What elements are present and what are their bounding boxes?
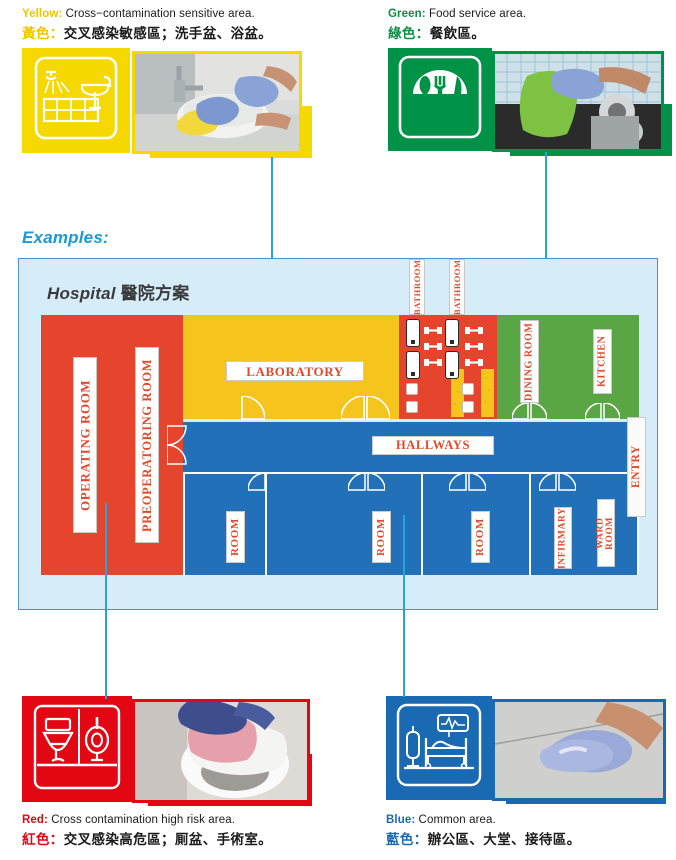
wall-rooms-left	[183, 472, 185, 575]
room-label-room-2: ROOM	[372, 511, 391, 563]
red-key-en: Red:	[22, 814, 48, 826]
yellow-caption-en: Yellow: Cross−contamination sensitive ar…	[22, 8, 272, 20]
blue-photo-wrap	[492, 699, 666, 801]
diagram-title-en: Hospital	[47, 284, 116, 303]
blue-key-zh: 藍色：	[386, 832, 428, 847]
green-photo-wrap	[492, 51, 664, 152]
door-laboratory-right-a	[341, 396, 365, 420]
door-kitchen-a	[585, 403, 602, 420]
yellow-text-zh: 交叉感染敏感區；洗手盆、浴盆。	[64, 26, 273, 41]
blue-caption: Blue: Common area. 藍色：辦公區、大堂、接待區。	[386, 814, 581, 848]
room-label-dining-room: DINING ROOM	[520, 320, 539, 403]
green-key-zh: 綠色：	[388, 26, 430, 41]
blue-photo	[495, 702, 663, 798]
door-dining-b	[530, 403, 547, 420]
yellow-photo-wrap	[132, 51, 302, 154]
room-label-preoperating-room: PREOPERATORING ROOM	[135, 347, 159, 543]
green-photo	[495, 54, 661, 149]
bathroom-stall-4	[445, 351, 459, 379]
room-label-ward-room: WARD ROOM	[597, 499, 615, 567]
red-key-zh: 紅色：	[22, 832, 64, 847]
red-photo	[135, 702, 307, 800]
door-room-2a	[348, 473, 366, 491]
green-caption-en: Green: Food service area.	[388, 8, 526, 20]
yellow-legend-block	[22, 48, 292, 160]
room-label-hallways: HALLWAYS	[372, 436, 494, 455]
red-caption-zh: 紅色：交叉感染高危區；厠盆、手術室。	[22, 828, 272, 848]
red-caption: Red: Cross contamination high risk area.…	[22, 814, 272, 848]
green-legend-block	[388, 48, 668, 160]
bathroom-sink-2	[406, 401, 418, 413]
door-preop-to-hallway	[167, 425, 187, 465]
wall-rooms-divider-3	[529, 472, 531, 575]
green-caption-zh: 綠色：餐飲區。	[388, 22, 526, 42]
red-text-en: Cross contamination high risk area.	[51, 814, 235, 826]
bathroom-stall-3	[445, 319, 459, 347]
toilet-and-brush-icon	[31, 703, 123, 796]
bathroom-sink-4	[462, 401, 474, 413]
room-label-bathroom-2: BATHROOM	[449, 259, 465, 315]
hospital-bed-monitor-icon	[394, 702, 484, 795]
green-text-en: Food service area.	[429, 8, 526, 20]
door-room-2b	[367, 473, 385, 491]
room-label-laboratory: LABORATORY	[226, 361, 364, 381]
room-label-room-3: ROOM	[471, 511, 490, 563]
green-icon-tile	[388, 48, 492, 151]
wall-rooms-divider-2	[421, 472, 423, 575]
yellow-caption: Yellow: Cross−contamination sensitive ar…	[22, 8, 272, 42]
room-label-room-1: ROOM	[226, 511, 245, 563]
red-legend-block	[22, 696, 312, 810]
poster-root: Yellow: Cross−contamination sensitive ar…	[0, 0, 676, 860]
room-label-infirmary: INFIRMARY	[554, 507, 572, 569]
hospital-diagram-panel: Hospital 醫院方案 OPERATING ROOM PREOPERATOR…	[18, 258, 658, 610]
blue-legend-block	[386, 696, 674, 810]
room-label-operating-room: OPERATING ROOM	[73, 357, 97, 533]
yellow-text-en: Cross−contamination sensitive area.	[66, 8, 255, 20]
door-room-3b	[468, 473, 486, 491]
blue-text-en: Common area.	[419, 814, 496, 826]
bathroom-sink-3	[462, 383, 474, 395]
zone-red-surgical	[41, 315, 183, 575]
room-label-entry: ENTRY	[627, 417, 646, 517]
red-icon-tile	[22, 696, 132, 802]
blue-caption-en: Blue: Common area.	[386, 814, 581, 826]
room-label-kitchen: KITCHEN	[593, 329, 612, 394]
blue-connector-line	[403, 515, 405, 697]
green-text-zh: 餐飲區。	[430, 26, 486, 41]
blue-text-zh: 辦公區、大堂、接待區。	[428, 832, 581, 847]
yellow-key-zh: 黃色：	[22, 26, 64, 41]
bathroom-sink-1	[406, 383, 418, 395]
door-infirmary	[539, 473, 557, 491]
yellow-icon-tile	[22, 48, 130, 153]
green-key-en: Green:	[388, 8, 426, 20]
bathroom-stall-2	[406, 351, 420, 379]
bathroom-stall-1	[406, 319, 420, 347]
room-label-bathroom-1: BATHROOM	[409, 259, 425, 315]
door-ward-room	[558, 473, 576, 491]
bathroom-fitting-6	[465, 353, 483, 371]
door-laboratory-left	[241, 396, 265, 420]
bathroom-wet-strip-2	[481, 369, 494, 417]
red-caption-en: Red: Cross contamination high risk area.	[22, 814, 272, 826]
diagram-title: Hospital 醫院方案	[47, 279, 189, 304]
yellow-photo	[135, 54, 299, 151]
door-laboratory-right-b	[366, 396, 390, 420]
blue-key-en: Blue:	[386, 814, 415, 826]
bathroom-fitting-3	[424, 353, 442, 371]
blue-icon-tile	[386, 696, 492, 800]
door-room-1	[248, 473, 266, 491]
yellow-caption-zh: 黃色：交叉感染敏感區；洗手盆、浴盆。	[22, 22, 272, 42]
yellow-key-en: Yellow:	[22, 8, 62, 20]
shower-and-sink-icon	[32, 55, 120, 146]
red-text-zh: 交叉感染高危區；厠盆、手術室。	[64, 832, 273, 847]
door-dining-a	[512, 403, 529, 420]
door-room-3a	[449, 473, 467, 491]
red-photo-wrap	[132, 699, 310, 803]
diagram-title-zh: 醫院方案	[121, 284, 190, 303]
door-kitchen-b	[603, 403, 620, 420]
red-connector-line	[105, 503, 107, 699]
blue-caption-zh: 藍色：辦公區、大堂、接待區。	[386, 828, 581, 848]
green-caption: Green: Food service area. 綠色：餐飲區。	[388, 8, 526, 42]
examples-heading: Examples:	[22, 228, 109, 248]
cutlery-plate-icon	[396, 54, 484, 145]
